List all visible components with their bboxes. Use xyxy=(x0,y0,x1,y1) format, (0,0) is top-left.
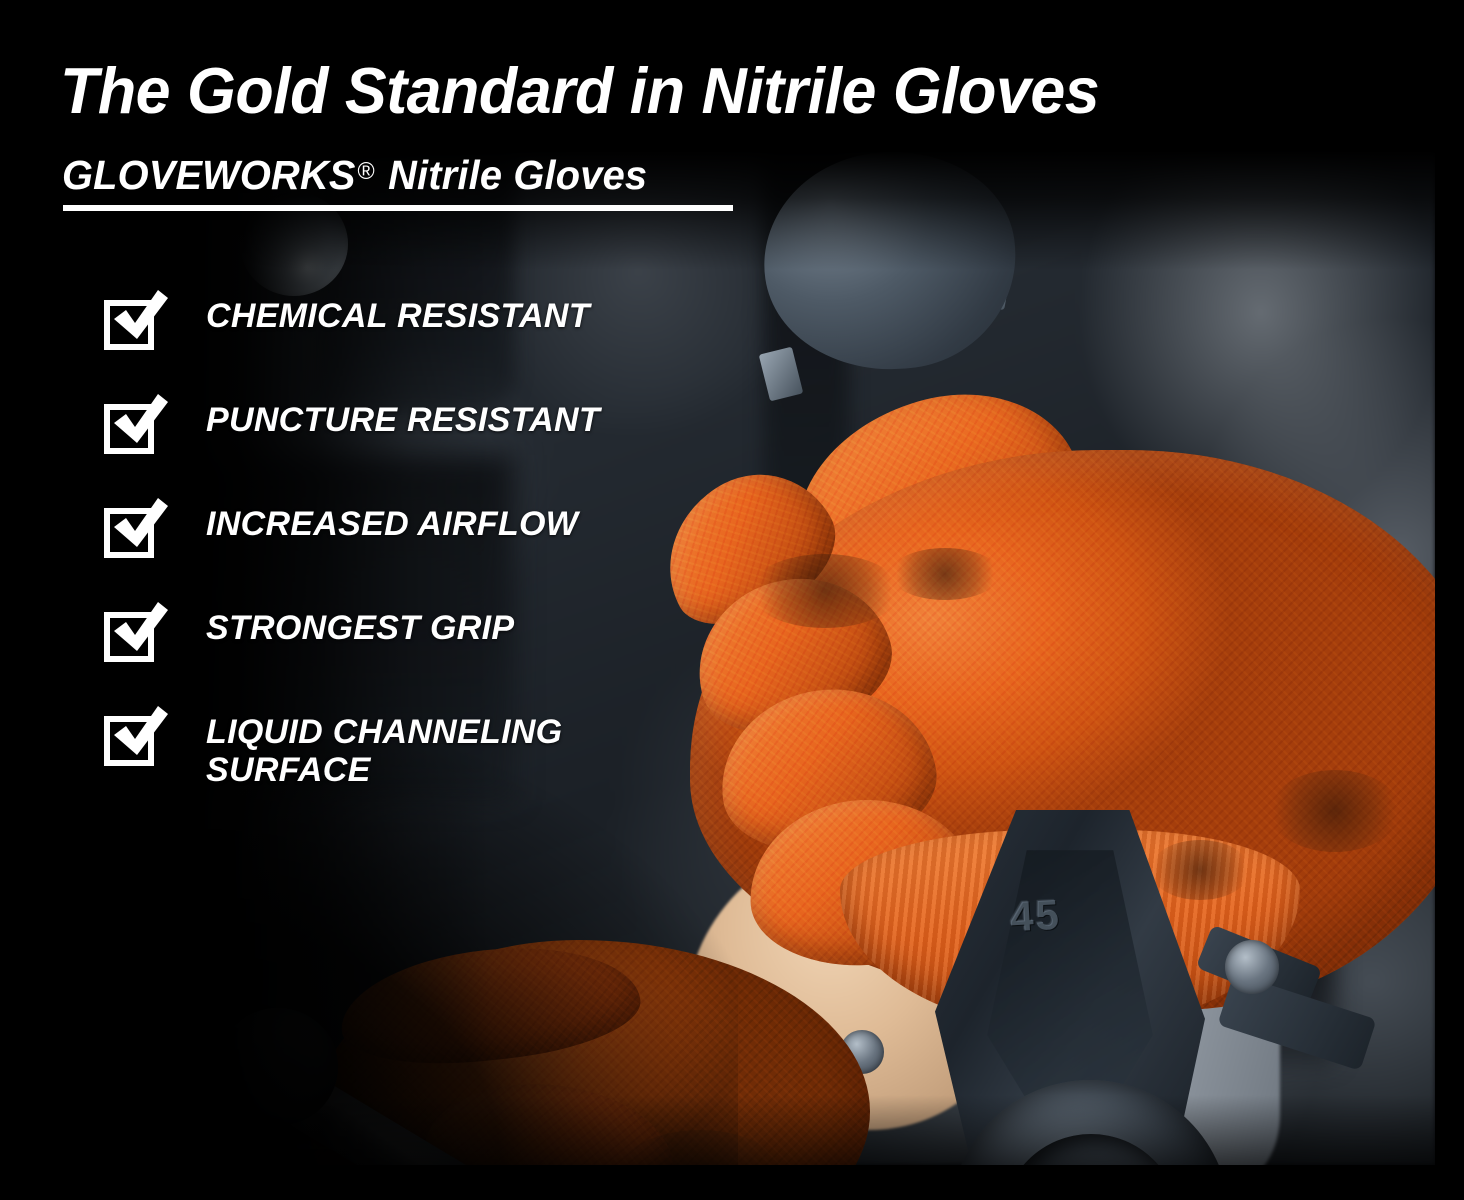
list-item: STRONGEST GRIP xyxy=(104,604,664,658)
list-item-label: LIQUID CHANNELING SURFACE xyxy=(206,708,664,789)
checkbox-checked-icon xyxy=(104,502,156,554)
list-item-label: STRONGEST GRIP xyxy=(206,604,514,647)
page-title: The Gold Standard in Nitrile Gloves xyxy=(60,58,1372,124)
checkbox-checked-icon xyxy=(104,294,156,346)
registered-trademark-icon: ® xyxy=(358,158,375,185)
checkbox-checked-icon xyxy=(104,398,156,450)
list-item-label: INCREASED AIRFLOW xyxy=(206,500,578,543)
checkbox-checked-icon xyxy=(104,710,156,762)
photo-bottom-fade xyxy=(190,1095,1435,1165)
divider xyxy=(63,205,733,211)
list-item: LIQUID CHANNELING SURFACE xyxy=(104,708,664,789)
checkbox-checked-icon xyxy=(104,606,156,658)
brand-name: GLOVEWORKS xyxy=(62,152,356,198)
brand-subtitle: GLOVEWORKS® Nitrile Gloves xyxy=(62,152,647,199)
rod-bolt-icon xyxy=(1225,940,1279,994)
part-marking-45: 45 xyxy=(1009,891,1062,942)
list-item: PUNCTURE RESISTANT xyxy=(104,396,664,450)
list-item-label: PUNCTURE RESISTANT xyxy=(206,396,600,439)
list-item: CHEMICAL RESISTANT xyxy=(104,292,664,346)
feature-list: CHEMICAL RESISTANT PUNCTURE RESISTANT IN… xyxy=(104,292,664,789)
product-feature-banner: 45 xyxy=(0,0,1464,1200)
list-item-label: CHEMICAL RESISTANT xyxy=(206,292,590,335)
list-item: INCREASED AIRFLOW xyxy=(104,500,664,554)
brand-suffix: Nitrile Gloves xyxy=(377,152,647,198)
